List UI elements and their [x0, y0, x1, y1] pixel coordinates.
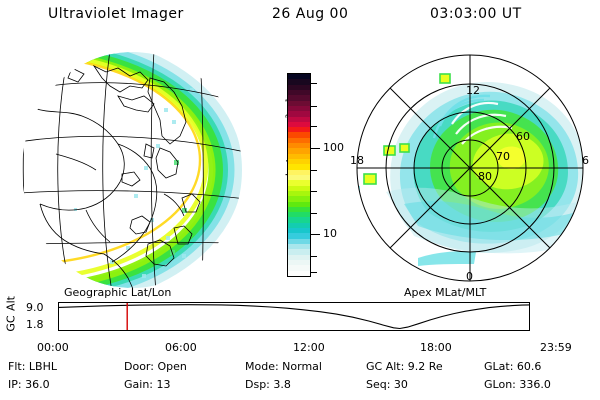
observation-time: 03:03:00 UT — [430, 6, 522, 22]
apex-polar-svg — [356, 42, 594, 294]
mlt-label-12: 12 — [466, 84, 480, 97]
geographic-projection-svg — [14, 48, 264, 292]
apex-polar-panel: 12 18 6 0 60 70 80 — [356, 42, 594, 294]
mlt-label-18: 18 — [350, 154, 364, 167]
colorbar-minor-tick — [311, 170, 317, 171]
colorbar-tick-label: 10 — [323, 228, 337, 239]
alt-tick-1-8: 1.8 — [26, 318, 44, 331]
colorbar-minor-tick — [311, 272, 317, 273]
status-footer: Flt: LBHL Door: Open Mode: Normal GC Alt… — [0, 360, 600, 400]
status-gain: Gain: 13 — [124, 378, 171, 391]
gc-altitude-panel: Alt GC 9.0 1.8 Geographic Lat/Lon Apex M… — [0, 292, 600, 340]
colorbar-ticks: 10010 — [311, 73, 356, 277]
mlat-ring-70: 70 — [496, 150, 510, 163]
aurora-oval — [356, 74, 586, 266]
alt-curve — [59, 305, 529, 329]
geographic-image-panel — [14, 48, 264, 292]
status-mode: Mode: Normal — [245, 360, 322, 373]
time-tick-2: 12:00 — [293, 341, 325, 354]
status-dsp: Dsp: 3.8 — [245, 378, 291, 391]
colorbar-segment — [288, 271, 310, 276]
colorbar-major-tick — [311, 148, 320, 149]
status-ip: IP: 36.0 — [8, 378, 50, 391]
mlt-label-0: 0 — [466, 270, 473, 283]
caption-geographic: Geographic Lat/Lon — [64, 286, 171, 299]
time-axis: 00:00 06:00 12:00 18:00 23:59 — [0, 341, 600, 357]
caption-apex: Apex MLat/MLT — [404, 286, 486, 299]
header-bar: Ultraviolet Imager 26 Aug 00 03:03:00 UT — [0, 4, 600, 30]
colorbar-panel: photon cm⁻²s⁻¹ 10010 — [266, 60, 356, 295]
time-tick-4: 23:59 — [540, 341, 572, 354]
page-title: Ultraviolet Imager — [48, 6, 184, 22]
colorbar-gradient — [287, 73, 311, 277]
mlat-ring-60: 60 — [516, 130, 530, 143]
mlat-ring-80: 80 — [478, 170, 492, 183]
colorbar-minor-tick — [311, 256, 317, 257]
status-door: Door: Open — [124, 360, 187, 373]
colorbar-tick-label: 100 — [323, 142, 344, 153]
alt-axis-label-bottom: GC — [5, 308, 18, 340]
status-flt: Flt: LBHL — [8, 360, 57, 373]
status-glat: GLat: 60.6 — [484, 360, 541, 373]
colorbar-minor-tick — [311, 126, 317, 127]
observation-date: 26 Aug 00 — [272, 6, 348, 22]
mlt-label-6: 6 — [582, 154, 589, 167]
time-tick-3: 18:00 — [420, 341, 452, 354]
status-glon: GLon: 336.0 — [484, 378, 551, 391]
status-seq: Seq: 30 — [366, 378, 408, 391]
colorbar-major-tick — [311, 234, 320, 235]
colorbar-minor-tick — [311, 83, 317, 84]
status-gc-alt: GC Alt: 9.2 Re — [366, 360, 443, 373]
alt-tick-9: 9.0 — [26, 301, 44, 314]
colorbar-minor-tick — [311, 213, 317, 214]
time-tick-1: 06:00 — [165, 341, 197, 354]
colorbar-minor-tick — [311, 106, 317, 107]
colorbar-minor-tick — [311, 191, 317, 192]
time-tick-0: 00:00 — [37, 341, 69, 354]
alt-plot-box — [58, 302, 530, 331]
alt-curve-svg — [59, 303, 529, 330]
